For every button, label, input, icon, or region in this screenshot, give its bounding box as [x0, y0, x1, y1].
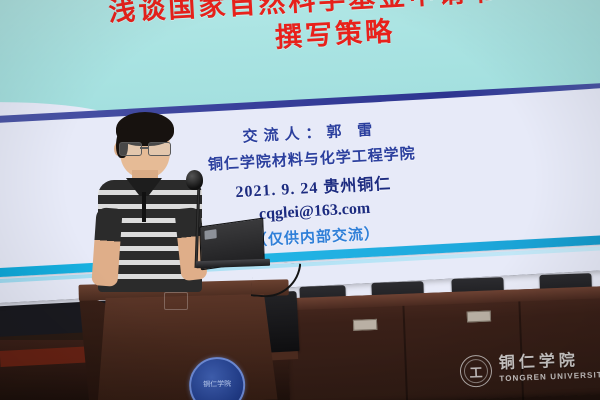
desk-nameplate — [353, 319, 377, 331]
speaker-arm-left — [91, 207, 122, 287]
desk-seam — [402, 306, 408, 400]
glasses-bridge — [140, 147, 148, 149]
lectern-emblem-icon: 铜仁学院 — [188, 356, 245, 400]
lens-left — [119, 142, 142, 156]
watermark: 工 铜仁学院 TONGREN UNIVERSITY — [459, 350, 600, 388]
projection-screen: 浅谈国家自然科学基金申请书 撰写策略 交流人：郭 雷 铜仁学院材料与化学工程学院… — [0, 0, 600, 305]
photo-scene: 浅谈国家自然科学基金申请书 撰写策略 交流人：郭 雷 铜仁学院材料与化学工程学院… — [0, 0, 600, 400]
speaker — [92, 112, 212, 312]
watermark-texts: 铜仁学院 TONGREN UNIVERSITY — [499, 352, 600, 383]
shirt-placket — [142, 192, 146, 222]
screen-frame: 浅谈国家自然科学基金申请书 撰写策略 交流人：郭 雷 铜仁学院材料与化学工程学院… — [0, 0, 600, 305]
laptop-badge — [204, 229, 216, 240]
conference-desk: 工 铜仁学院 TONGREN UNIVERSITY — [286, 286, 600, 400]
eyeglasses-icon — [118, 142, 172, 154]
microphone-icon — [186, 170, 203, 190]
shirt-pocket — [164, 292, 188, 310]
watermark-name-en: TONGREN UNIVERSITY — [499, 371, 600, 384]
presentation-slide: 浅谈国家自然科学基金申请书 撰写策略 交流人：郭 雷 铜仁学院材料与化学工程学院… — [0, 0, 600, 305]
seal-glyph: 工 — [469, 361, 483, 380]
university-seal-icon: 工 — [459, 355, 492, 388]
lens-right — [148, 142, 171, 156]
lectern-emblem-label: 铜仁学院 — [203, 381, 231, 389]
desk-nameplate — [467, 311, 491, 323]
